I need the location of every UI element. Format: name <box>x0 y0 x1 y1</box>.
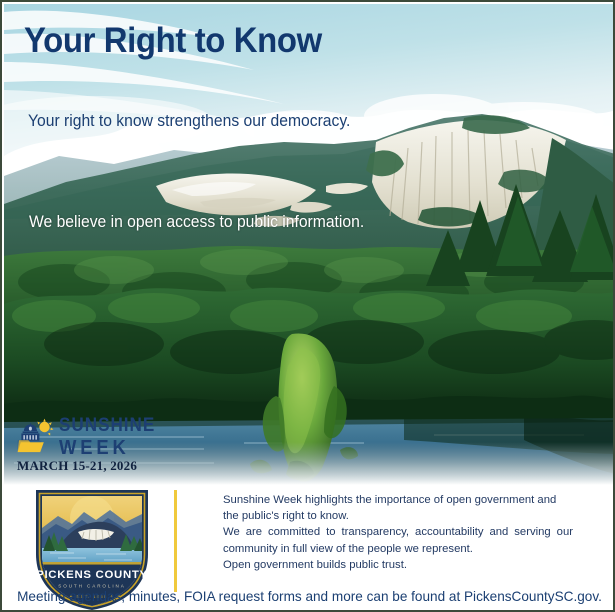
seal-county-label: PICKENS COUNTY <box>36 569 148 581</box>
vertical-divider <box>174 490 177 592</box>
footer-note: Meeting agendas, minutes, FOIA request f… <box>13 588 606 604</box>
landscape-photo <box>4 4 615 485</box>
capitol-dome-sun-folder-art <box>16 416 54 454</box>
subheadline: Your right to know strengthens our democ… <box>28 112 350 131</box>
week-word: WEEK <box>59 437 147 459</box>
sunshine-week-dates: MARCH 15-21, 2026 <box>17 458 137 474</box>
sunshine-word: SUNSHINE <box>59 416 145 435</box>
footer-paragraph-1: Sunshine Week highlights the importance … <box>223 492 573 524</box>
footer-panel: PICKENS COUNTY SOUTH CAROLINA ✦ ✦ EST. 1… <box>4 485 615 612</box>
footer-body-copy: Sunshine Week highlights the importance … <box>223 492 573 573</box>
overlay-statement: We believe in open access to public info… <box>29 213 364 232</box>
footer-paragraph-3: Open government builds public trust. <box>223 557 573 573</box>
sunshine-week-logo: SUNSHINE WEEK MARCH 15-21, 2026 <box>16 416 156 472</box>
capitol-dome-sun-folder-icon <box>16 416 54 454</box>
sunshine-week-ad: Your Right to Know Your right to know st… <box>0 0 615 612</box>
sunshine-week-wordmark: SUNSHINE WEEK <box>59 416 155 459</box>
footer-paragraph-2: We are committed to transparency, accoun… <box>223 524 573 556</box>
page-title: Your Right to Know <box>24 23 322 60</box>
landscape-photo-art <box>4 4 615 485</box>
